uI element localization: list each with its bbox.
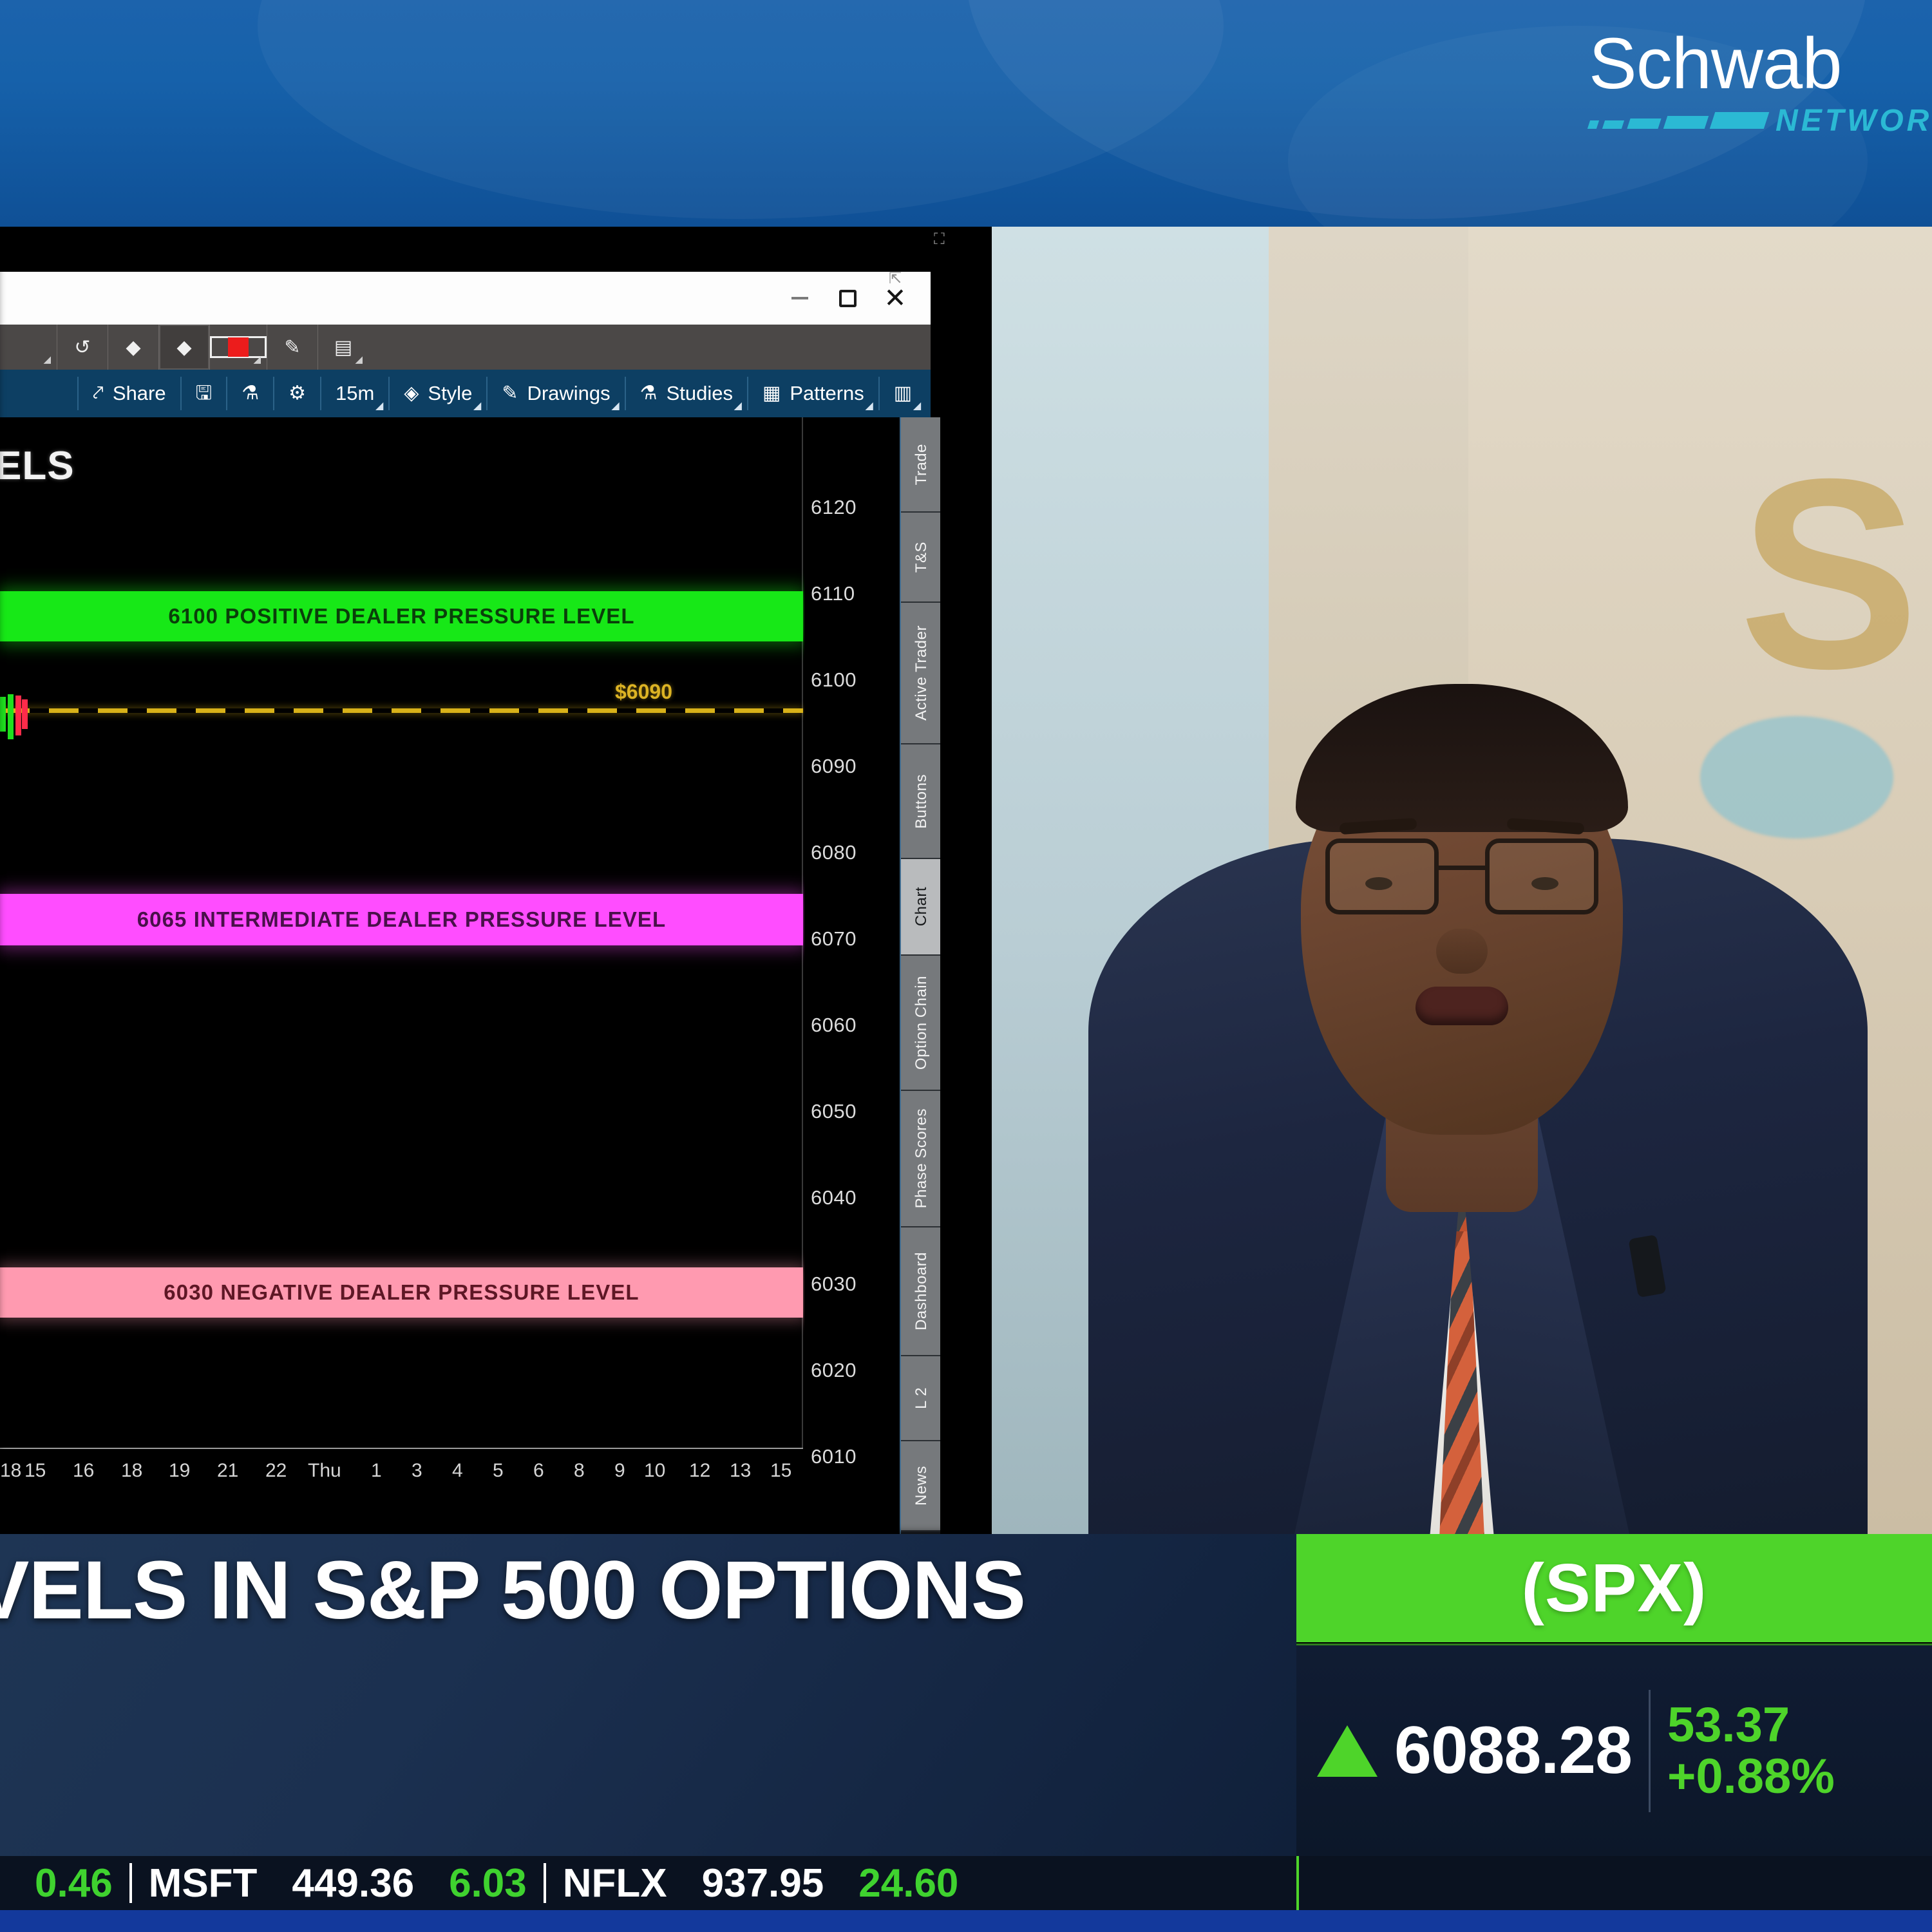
price-tick: 6040 xyxy=(811,1186,857,1209)
tab-label: Active Trader xyxy=(913,625,931,721)
platform-right-gutter: ⛶ ⇱ xyxy=(940,227,974,1534)
time-tick: 8 xyxy=(574,1460,585,1482)
schwab-network-logo: Schwab NETWORK xyxy=(1589,26,1932,138)
lens-right xyxy=(1485,838,1598,914)
sidebar-item-buttons[interactable]: Buttons xyxy=(901,744,942,859)
price-axis[interactable]: 6120 6110 6100 6090 6080 6070 6060 6050 … xyxy=(804,417,900,1448)
time-tick: 6 xyxy=(533,1460,544,1482)
tab-label: Option Chain xyxy=(913,976,931,1070)
time-tick: 21 xyxy=(217,1460,238,1482)
patterns-button[interactable]: ▦ Patterns ◢ xyxy=(748,370,878,417)
time-tick: 1 xyxy=(371,1460,382,1482)
time-tick: 10 xyxy=(644,1460,665,1482)
step-forward-icon[interactable]: ◆ xyxy=(159,325,209,370)
chevron-down-icon: ◢ xyxy=(734,399,742,412)
ticker-price: 937.95 xyxy=(702,1861,824,1906)
grid-icon: ▥ xyxy=(894,384,912,403)
hair xyxy=(1296,684,1628,832)
ticker-change: 24.60 xyxy=(858,1861,958,1906)
settings-button[interactable]: ⚙ xyxy=(274,370,320,417)
chevron-down-icon: ◢ xyxy=(611,399,619,412)
time-tick: 12 xyxy=(689,1460,710,1482)
quote-row: 6088.28 53.37 +0.88% xyxy=(1296,1643,1932,1856)
anchor-figure xyxy=(992,529,1932,1534)
broadcast-header: Schwab NETWORK xyxy=(0,0,1932,227)
style-label: Style xyxy=(428,382,472,405)
share-icon: ⤤ xyxy=(93,384,104,403)
price-tick: 6070 xyxy=(811,927,857,951)
chevron-down-icon: ◢ xyxy=(865,399,873,412)
sidebar-item-ts[interactable]: T&S xyxy=(901,513,942,603)
price-tick: 6100 xyxy=(811,668,857,692)
level-band-6030: 6030 NEGATIVE DEALER PRESSURE LEVEL xyxy=(0,1267,803,1318)
chart-title-fragment: ELS xyxy=(0,443,75,489)
time-tick: 22 xyxy=(265,1460,287,1482)
share-label: Share xyxy=(113,382,166,405)
toolbar-overflow-caret[interactable]: ◢ xyxy=(6,325,57,370)
ticker-change: 6.03 xyxy=(449,1861,527,1906)
platform-side-tabs: Trade T&S Active Trader Buttons Chart Op… xyxy=(900,417,940,1534)
time-tick: 15 xyxy=(770,1460,791,1482)
style-button[interactable]: ◈ Style ◢ xyxy=(390,370,486,417)
lower-third: VELS IN S&P 500 OPTIONS (SPX) 6088.28 53… xyxy=(0,1534,1932,1932)
step-back-icon[interactable]: ◆ xyxy=(108,325,158,370)
screen: Schwab NETWORK ✕ ◢ ↺ ◆ xyxy=(0,0,1932,1932)
chart-toolbar: ⤤ Share 🖫 ⚗ ⚙ 15m ◢ xyxy=(0,370,931,417)
price-tick: 6030 xyxy=(811,1273,857,1296)
candle-icon: ◈ xyxy=(404,384,419,403)
price-tick: 6050 xyxy=(811,1100,857,1123)
lens-left xyxy=(1325,838,1439,914)
sidebar-item-trade[interactable]: Trade xyxy=(901,417,942,513)
current-price-label: $6090 xyxy=(615,680,672,704)
tab-label: L 2 xyxy=(913,1387,931,1409)
time-tick: 9 xyxy=(614,1460,625,1482)
tab-label: News xyxy=(913,1466,931,1506)
mouth xyxy=(1416,987,1508,1025)
content-area: ✕ ◢ ↺ ◆ ◆ ◢ ✎ ▤◢ xyxy=(0,227,1932,1534)
sidebar-item-option-chain[interactable]: Option Chain xyxy=(901,956,942,1091)
ticker-accent-line xyxy=(1296,1856,1299,1910)
tab-label: Dashboard xyxy=(913,1252,931,1331)
expand-icon[interactable]: ⛶ xyxy=(934,231,945,249)
drawings-icon: ✎ xyxy=(502,384,518,403)
gear-icon: ⚙ xyxy=(289,384,306,403)
snapshot-button[interactable]: 🖫 xyxy=(182,370,227,417)
sidebar-item-phase-scores[interactable]: Phase Scores xyxy=(901,1091,942,1227)
chevron-down-icon: ◢ xyxy=(375,399,383,412)
up-arrow-icon xyxy=(1317,1725,1378,1777)
drawings-label: Drawings xyxy=(527,382,610,405)
price-tick: 6120 xyxy=(811,496,857,519)
glasses-bridge xyxy=(1439,866,1485,870)
studies-label: Studies xyxy=(667,382,733,405)
drawings-button[interactable]: ✎ Drawings ◢ xyxy=(488,370,624,417)
time-tick: 19 xyxy=(169,1460,190,1482)
symbol-text: (SPX) xyxy=(1522,1549,1707,1627)
undo-icon[interactable]: ↺ xyxy=(57,325,108,370)
window-titlebar: ✕ xyxy=(0,272,931,325)
timeframe-label: 15m xyxy=(336,382,374,405)
snapshot-icon: 🖫 xyxy=(196,384,213,403)
logo-wordmark: Schwab xyxy=(1589,26,1932,102)
grid-layout-button[interactable]: ▥ ◢ xyxy=(880,370,926,417)
time-tick: 15 xyxy=(24,1460,46,1482)
patterns-icon: ▦ xyxy=(762,384,781,403)
nose xyxy=(1436,929,1488,974)
ticker-item: 0.46 xyxy=(35,1861,113,1906)
price-tick: 6090 xyxy=(811,755,857,778)
level-label-6065: 6065 INTERMEDIATE DEALER PRESSURE LEVEL xyxy=(137,907,667,932)
tab-label: T&S xyxy=(913,542,931,573)
ticker-item: MSFT 449.36 6.03 xyxy=(149,1861,527,1906)
broadcast-video: S xyxy=(992,227,1932,1534)
studies-icon: ⚗ xyxy=(640,384,658,403)
sidebar-item-active-trader[interactable]: Active Trader xyxy=(901,603,942,744)
chevron-down-icon: ◢ xyxy=(913,399,921,412)
tab-label: Buttons xyxy=(913,774,931,829)
sidebar-item-chart[interactable]: Chart xyxy=(901,859,942,956)
bottom-blue-strip xyxy=(0,1910,1932,1932)
change-value: 53.37 xyxy=(1667,1700,1835,1751)
time-tick: 4 xyxy=(452,1460,463,1482)
time-tick: 18 xyxy=(0,1460,21,1482)
price-tick: 6010 xyxy=(811,1445,857,1468)
time-tick: 16 xyxy=(73,1460,94,1482)
time-tick: 3 xyxy=(412,1460,422,1482)
sidebar-item-l2[interactable]: L 2 xyxy=(901,1356,942,1441)
time-tick: 5 xyxy=(493,1460,504,1482)
sidebar-item-dashboard[interactable]: Dashboard xyxy=(901,1227,942,1356)
delete-drawings-icon[interactable]: ▤◢ xyxy=(318,325,368,370)
pin-icon[interactable]: ⇱ xyxy=(889,269,902,288)
share-button[interactable]: ⤤ Share xyxy=(79,370,180,417)
tab-label: Phase Scores xyxy=(913,1108,931,1208)
tab-label: Trade xyxy=(913,444,931,485)
level-label-6100: 6100 POSITIVE DEALER PRESSURE LEVEL xyxy=(168,604,634,629)
chevron-down-icon: ◢ xyxy=(473,399,481,412)
change-percent: +0.88% xyxy=(1667,1751,1835,1803)
price-tick: 6110 xyxy=(811,582,855,605)
color-swatch-red xyxy=(228,337,249,357)
quote-divider xyxy=(1649,1690,1651,1812)
logo-network-text: NETWORK xyxy=(1776,103,1932,138)
level-band-6100: 6100 POSITIVE DEALER PRESSURE LEVEL xyxy=(0,591,803,641)
studies-button[interactable]: ⚗ Studies ◢ xyxy=(626,370,747,417)
quote-panel: (SPX) 6088.28 53.37 +0.88% xyxy=(1296,1534,1932,1856)
tab-label: Chart xyxy=(913,887,931,926)
ticker-symbol: MSFT xyxy=(149,1861,258,1906)
timeframe-button[interactable]: 15m ◢ xyxy=(321,370,388,417)
logo-sub-row: NETWORK xyxy=(1589,103,1932,138)
ticker-divider xyxy=(544,1863,546,1903)
time-axis[interactable]: 15 16 18 18 19 21 22 Thu 1 3 4 5 6 8 9 1… xyxy=(0,1448,803,1493)
time-tick: 13 xyxy=(730,1460,751,1482)
price-chart[interactable]: ELS 6100 POSITIVE DEALER PRESSURE LEVEL … xyxy=(0,417,803,1448)
price-tick: 6060 xyxy=(811,1014,857,1037)
price-tick: 6020 xyxy=(811,1359,857,1382)
change-block: 53.37 +0.88% xyxy=(1667,1700,1835,1803)
trading-platform-window: ✕ ◢ ↺ ◆ ◆ ◢ ✎ ▤◢ xyxy=(0,227,974,1534)
time-tick: 18 xyxy=(121,1460,142,1482)
ticker-item: NFLX 937.95 24.60 xyxy=(563,1861,959,1906)
eyeglasses xyxy=(1325,838,1598,916)
level-band-6065: 6065 INTERMEDIATE DEALER PRESSURE LEVEL xyxy=(0,894,803,945)
ticker-symbol: NFLX xyxy=(563,1861,667,1906)
last-price: 6088.28 xyxy=(1394,1712,1632,1789)
studies-flask-button[interactable]: ⚗ xyxy=(227,370,273,417)
headline-panel: VELS IN S&P 500 OPTIONS xyxy=(0,1534,1296,1856)
ticker-price: 449.36 xyxy=(292,1861,414,1906)
ticker-change: 0.46 xyxy=(35,1861,113,1906)
logo-dashes-icon xyxy=(1589,112,1766,129)
minimize-icon[interactable] xyxy=(776,278,824,318)
maximize-icon[interactable] xyxy=(824,278,871,318)
drawing-toolbar: ◢ ↺ ◆ ◆ ◢ ✎ ▤◢ xyxy=(0,325,931,370)
patterns-label: Patterns xyxy=(790,382,864,405)
ticker-divider xyxy=(129,1863,132,1903)
time-tick: Thu xyxy=(308,1460,341,1482)
current-price-dashed-line xyxy=(0,708,803,713)
sidebar-item-news[interactable]: News xyxy=(901,1441,942,1531)
headline-text: VELS IN S&P 500 OPTIONS xyxy=(0,1543,1301,1638)
symbol-banner: (SPX) xyxy=(1296,1534,1932,1642)
color-swatch-button[interactable]: ◢ xyxy=(210,325,267,370)
price-tick: 6080 xyxy=(811,841,857,864)
flask-icon: ⚗ xyxy=(241,384,259,403)
eraser-icon[interactable]: ✎ xyxy=(267,325,317,370)
ticker-tape: 0.46 MSFT 449.36 6.03 NFLX 937.95 24.60 xyxy=(0,1856,1932,1910)
level-label-6030: 6030 NEGATIVE DEALER PRESSURE LEVEL xyxy=(164,1280,639,1305)
candlestick-cluster xyxy=(0,688,30,742)
